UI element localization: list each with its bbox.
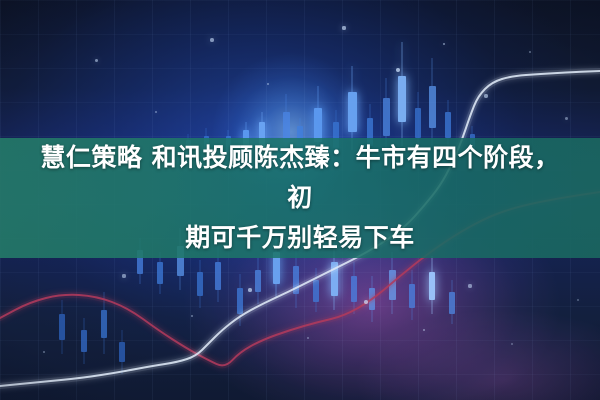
page-title: 慧仁策略 和讯投顾陈杰臻：牛市有四个阶段，初 期可千万别轻易下车 bbox=[20, 138, 580, 258]
headline-line-2: 期可千万别轻易下车 bbox=[185, 223, 415, 252]
headline-band: 慧仁策略 和讯投顾陈杰臻：牛市有四个阶段，初 期可千万别轻易下车 bbox=[0, 138, 600, 258]
banner-image: 慧仁策略 和讯投顾陈杰臻：牛市有四个阶段，初 期可千万别轻易下车 bbox=[0, 0, 600, 400]
headline-line-1: 慧仁策略 和讯投顾陈杰臻：牛市有四个阶段，初 bbox=[40, 143, 559, 212]
